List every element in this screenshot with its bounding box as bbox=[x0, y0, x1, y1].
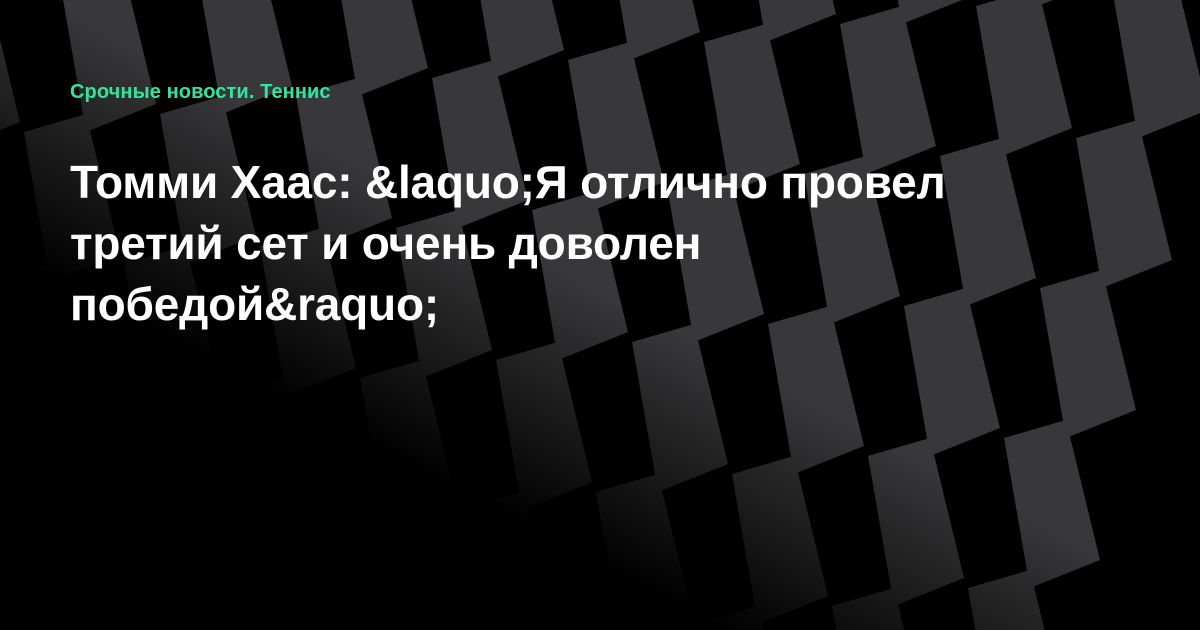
headline-line-2: третий сет и очень доволен bbox=[70, 213, 1070, 274]
headline-line-1: Томми Хаас: &laquo;Я отлично провел bbox=[70, 152, 1070, 213]
news-social-card: Срочные новости. Теннис Томми Хаас: &laq… bbox=[0, 0, 1200, 630]
headline-line-3: победой&raquo; bbox=[70, 274, 1070, 335]
page-title: Томми Хаас: &laquo;Я отлично провел трет… bbox=[70, 152, 1070, 335]
category-kicker: Срочные новости. Теннис bbox=[70, 79, 331, 105]
card-content: Срочные новости. Теннис Томми Хаас: &laq… bbox=[0, 0, 1200, 630]
